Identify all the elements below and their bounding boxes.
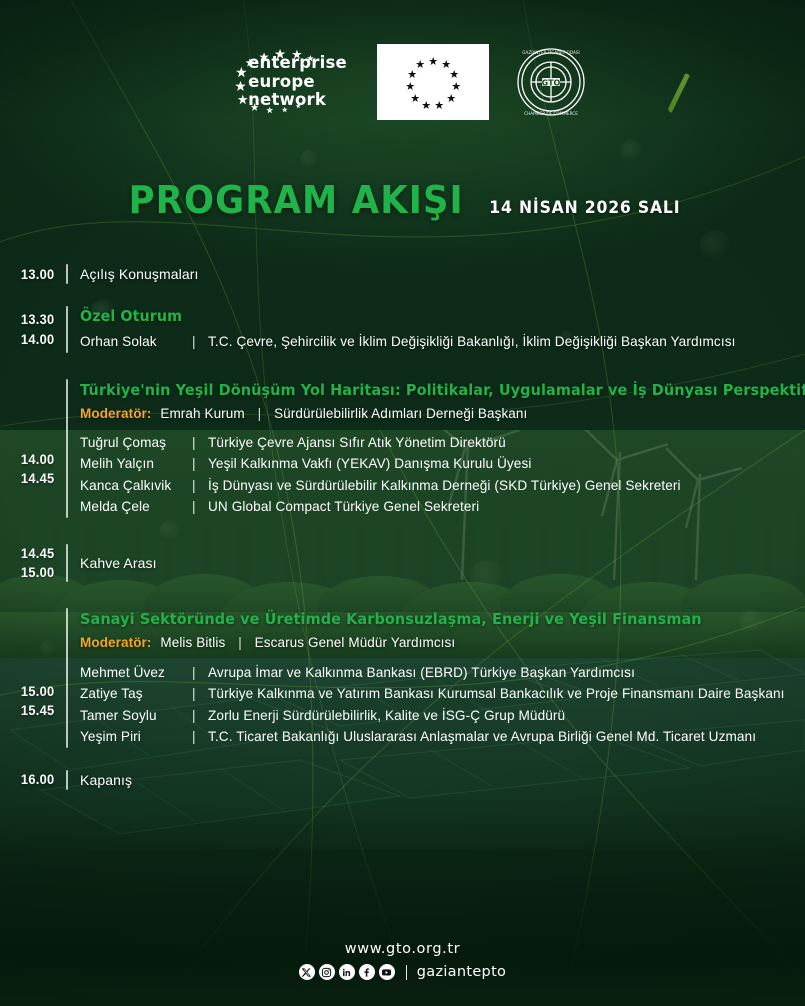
- session-title: Türkiye'nin Yeşil Dönüşüm Yol Haritası: …: [80, 379, 805, 401]
- moderator-name: Emrah Kurum: [155, 406, 244, 421]
- footer: www.gto.org.tr gazi: [0, 941, 805, 980]
- instagram-icon[interactable]: [319, 964, 335, 980]
- row-content: Sanayi Sektöründe ve Üretimde Karbonsuzl…: [80, 608, 805, 748]
- pipe-separator: |: [192, 662, 208, 683]
- pipe-separator: |: [249, 406, 271, 421]
- speaker-role: İş Dünyası ve Sürdürülebilir Kalkınma De…: [208, 475, 681, 496]
- row-divider: [66, 379, 68, 518]
- moderator-label: Moderatör:: [80, 635, 152, 650]
- speaker-row: Melda Çele | UN Global Compact Türkiye G…: [80, 496, 805, 517]
- een-line-1: enterprise: [248, 54, 347, 72]
- schedule-row-karbonsuzlasma: 15.00 15.45 Sanayi Sektöründe ve Üretimd…: [0, 608, 805, 748]
- moderator-role: Sürdürülebilirlik Adımları Derneği Başka…: [274, 406, 527, 421]
- social-links: gaziantepto: [0, 964, 805, 980]
- gto-logo: GTO GAZİANTEP TİCARET ODASI CHAMBER OF C…: [515, 46, 587, 118]
- row-content: Açılış Konuşmaları: [80, 264, 805, 284]
- time-column: 13.00: [0, 264, 55, 284]
- time-start: 13.30: [21, 310, 55, 329]
- speaker-row: Melih Yalçın | Yeşil Kalkınma Vakfı (YEK…: [80, 453, 805, 474]
- linkedin-icon[interactable]: [339, 964, 355, 980]
- time-end: 15.00: [21, 563, 55, 582]
- pipe-separator: |: [192, 331, 208, 352]
- pipe-separator: |: [192, 726, 208, 747]
- row-divider: [66, 306, 68, 352]
- item-title: Açılış Konuşmaları: [80, 264, 791, 284]
- time-end: 14.00: [21, 330, 55, 349]
- moderator-row: Moderatör: Emrah Kurum | Sürdürülebilirl…: [80, 404, 805, 424]
- speaker-name: Tuğrul Çomaş: [80, 432, 192, 453]
- speaker-role: T.C. Ticaret Bakanlığı Uluslararası Anla…: [208, 726, 756, 747]
- schedule-row-opening: 13.00 Açılış Konuşmaları: [0, 264, 805, 284]
- time-column: 14.00 14.45: [0, 379, 55, 518]
- enterprise-europe-network-logo: enterprise europe network: [218, 48, 351, 115]
- svg-text:GAZİANTEP TİCARET ODASI: GAZİANTEP TİCARET ODASI: [522, 50, 580, 55]
- time-start: 14.00: [21, 450, 55, 469]
- speaker-role: Yeşil Kalkınma Vakfı (YEKAV) Danışma Kur…: [208, 453, 531, 474]
- pipe-separator: |: [192, 432, 208, 453]
- speaker-row: Yeşim Piri | T.C. Ticaret Bakanlığı Ulus…: [80, 726, 791, 747]
- speaker-row: Zatiye Taş | Türkiye Kalkınma ve Yatırım…: [80, 683, 791, 704]
- row-content: Kahve Arası: [80, 544, 805, 582]
- time-end: 15.45: [21, 701, 55, 720]
- speaker-row: Orhan Solak | T.C. Çevre, Şehircilik ve …: [80, 331, 791, 352]
- speaker-row: Tuğrul Çomaş | Türkiye Çevre Ajansı Sıfı…: [80, 432, 805, 453]
- schedule-list: 13.00 Açılış Konuşmaları 13.30 14.00 Öze…: [0, 264, 805, 790]
- item-title: Kahve Arası: [80, 553, 791, 573]
- moderator-name: Melis Bitlis: [155, 635, 225, 650]
- svg-text:CHAMBER OF COMMERCE: CHAMBER OF COMMERCE: [524, 111, 578, 116]
- speaker-name: Tamer Soylu: [80, 705, 192, 726]
- time-column: 14.45 15.00: [0, 544, 55, 582]
- page-title: PROGRAM AKIŞI: [129, 178, 464, 222]
- speaker-row: Mehmet Üvez | Avrupa İmar ve Kalkınma Ba…: [80, 662, 791, 683]
- time-value: 13.00: [21, 265, 55, 284]
- session-title: Özel Oturum: [80, 306, 755, 328]
- schedule-row-kapanis: 16.00 Kapanış: [0, 770, 805, 790]
- speaker-role: Türkiye Çevre Ajansı Sıfır Atık Yönetim …: [208, 432, 506, 453]
- speaker-role: Avrupa İmar ve Kalkınma Bankası (EBRD) T…: [208, 662, 635, 683]
- pipe-separator: |: [192, 683, 208, 704]
- time-end: 14.45: [21, 469, 55, 488]
- schedule-row-yesil-donusum: 14.00 14.45 Türkiye'nin Yeşil Dönüşüm Yo…: [0, 379, 805, 518]
- speaker-role: Zorlu Enerji Sürdürülebilirlik, Kalite v…: [208, 705, 565, 726]
- een-line-2: europe: [248, 73, 347, 91]
- speaker-name: Kanca Çalkıvik: [80, 475, 192, 496]
- svg-text:GTO: GTO: [542, 79, 561, 88]
- speaker-name: Melda Çele: [80, 496, 192, 517]
- speaker-name: Yeşim Piri: [80, 726, 192, 747]
- logo-row: enterprise europe network: [0, 44, 805, 120]
- row-divider: [66, 608, 68, 748]
- speaker-row: Kanca Çalkıvik | İş Dünyası ve Sürdürüle…: [80, 475, 805, 496]
- item-title: Kapanış: [80, 770, 791, 790]
- youtube-icon[interactable]: [379, 964, 395, 980]
- schedule-row-kahve-arasi: 14.45 15.00 Kahve Arası: [0, 544, 805, 582]
- pipe-separator: |: [192, 705, 208, 726]
- time-value: 16.00: [21, 770, 55, 789]
- row-divider: [66, 544, 68, 582]
- pipe-separator: |: [192, 453, 208, 474]
- row-divider: [66, 264, 68, 284]
- row-content: Özel Oturum Orhan Solak | T.C. Çevre, Şe…: [80, 306, 805, 352]
- schedule-row-ozel-oturum: 13.30 14.00 Özel Oturum Orhan Solak | T.…: [0, 306, 805, 352]
- website-link[interactable]: www.gto.org.tr: [0, 941, 805, 957]
- title-block: PROGRAM AKIŞI 14 NİSAN 2026 SALI: [0, 178, 805, 222]
- time-column: 16.00: [0, 770, 55, 790]
- social-handle[interactable]: gaziantepto: [417, 964, 506, 980]
- time-column: 15.00 15.45: [0, 608, 55, 748]
- pipe-separator: |: [192, 475, 208, 496]
- pipe-separator: |: [192, 496, 208, 517]
- row-content: Türkiye'nin Yeşil Dönüşüm Yol Haritası: …: [80, 379, 805, 518]
- speaker-name: Mehmet Üvez: [80, 662, 192, 683]
- row-content: Kapanış: [80, 770, 805, 790]
- page-date: 14 NİSAN 2026 SALI: [489, 198, 680, 218]
- poster-page: enterprise europe network: [0, 0, 805, 1006]
- facebook-icon[interactable]: [359, 964, 375, 980]
- row-divider: [66, 770, 68, 790]
- moderator-label: Moderatör:: [80, 406, 152, 421]
- speaker-role: Türkiye Kalkınma ve Yatırım Bankası Kuru…: [208, 683, 785, 704]
- speaker-name: Melih Yalçın: [80, 453, 192, 474]
- speaker-role: T.C. Çevre, Şehircilik ve İklim Değişikl…: [208, 331, 735, 352]
- time-column: 13.30 14.00: [0, 306, 55, 352]
- pipe-separator: |: [229, 635, 251, 650]
- moderator-role: Escarus Genel Müdür Yardımcısı: [255, 635, 456, 650]
- social-divider: [406, 965, 407, 980]
- een-logo-text: enterprise europe network: [222, 54, 347, 109]
- x-twitter-icon[interactable]: [299, 964, 315, 980]
- speaker-row: Tamer Soylu | Zorlu Enerji Sürdürülebili…: [80, 705, 791, 726]
- moderator-row: Moderatör: Melis Bitlis | Escarus Genel …: [80, 633, 791, 653]
- speaker-name: Zatiye Taş: [80, 683, 192, 704]
- time-start: 15.00: [21, 682, 55, 701]
- session-title: Sanayi Sektöründe ve Üretimde Karbonsuzl…: [80, 608, 755, 630]
- een-line-3: network: [248, 91, 347, 109]
- european-union-flag: [377, 44, 489, 120]
- speaker-name: Orhan Solak: [80, 331, 192, 352]
- speaker-role: UN Global Compact Türkiye Genel Sekreter…: [208, 496, 479, 517]
- time-start: 14.45: [21, 544, 55, 563]
